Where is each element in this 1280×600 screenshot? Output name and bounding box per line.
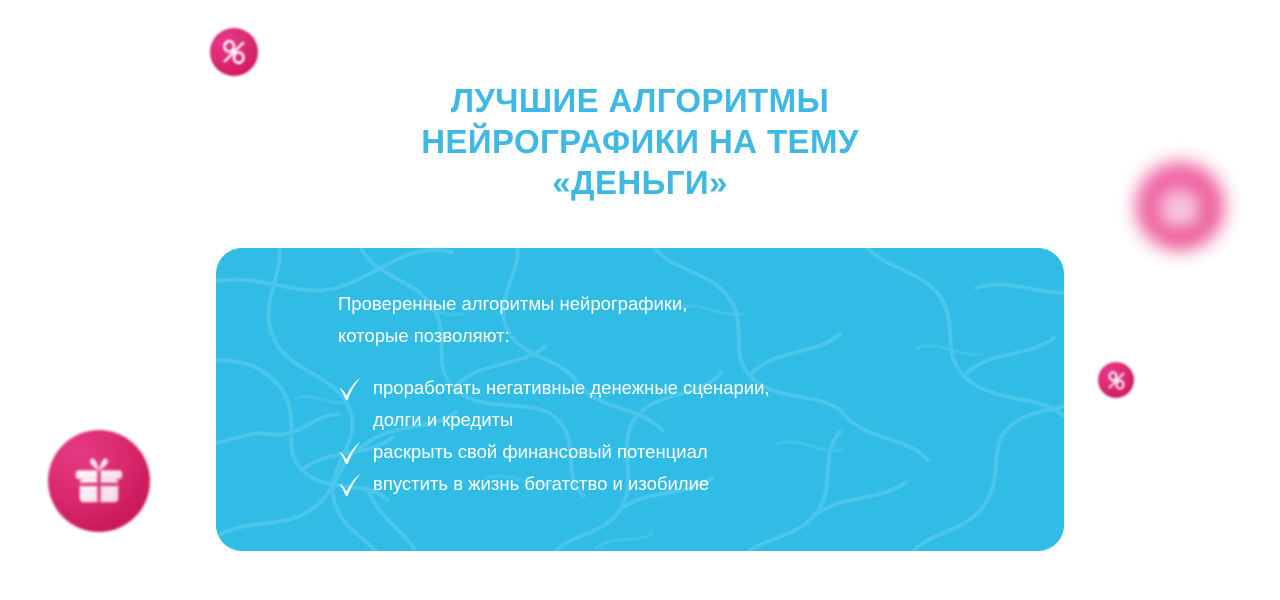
percent-icon [220, 38, 248, 66]
badge-percent-right [1098, 362, 1134, 398]
headline-line-1: ЛУЧШИЕ АЛГОРИТМЫ [240, 80, 1040, 121]
list-item-line-1: впустить в жизнь богатство и изобилие [373, 468, 1038, 500]
percent-icon [1106, 370, 1127, 391]
gift-icon [72, 454, 126, 508]
benefit-list: проработать негативные денежные сценарии… [338, 372, 1038, 500]
badge-gift-right [1136, 162, 1224, 250]
headline-line-2: НЕЙРОГРАФИКИ НА ТЕМУ [240, 121, 1040, 162]
list-item-line-2: долги и кредиты [373, 404, 1038, 436]
check-icon [336, 439, 364, 467]
check-icon [336, 471, 364, 499]
gift-icon [1156, 182, 1204, 230]
page-title: ЛУЧШИЕ АЛГОРИТМЫ НЕЙРОГРАФИКИ НА ТЕМУ «Д… [240, 80, 1040, 203]
promo-slide: ЛУЧШИЕ АЛГОРИТМЫ НЕЙРОГРАФИКИ НА ТЕМУ «Д… [0, 0, 1280, 600]
check-icon [336, 375, 364, 403]
card-intro: Проверенные алгоритмы нейрографики, кото… [338, 288, 1038, 352]
list-item-line-1: проработать негативные денежные сценарии… [373, 372, 1038, 404]
card-content: Проверенные алгоритмы нейрографики, кото… [338, 288, 1038, 500]
headline-line-3: «ДЕНЬГИ» [240, 162, 1040, 203]
card-intro-line-1: Проверенные алгоритмы нейрографики, [338, 288, 1038, 320]
list-item: проработать негативные денежные сценарии… [338, 372, 1038, 436]
badge-percent-top-left [210, 28, 258, 76]
card-intro-line-2: которые позволяют: [338, 320, 1038, 352]
list-item: раскрыть свой финансовый потенциал [338, 436, 1038, 468]
list-item: впустить в жизнь богатство и изобилие [338, 468, 1038, 500]
feature-card: Проверенные алгоритмы нейрографики, кото… [216, 248, 1064, 551]
badge-gift-left [48, 430, 150, 532]
list-item-line-1: раскрыть свой финансовый потенциал [373, 436, 1038, 468]
